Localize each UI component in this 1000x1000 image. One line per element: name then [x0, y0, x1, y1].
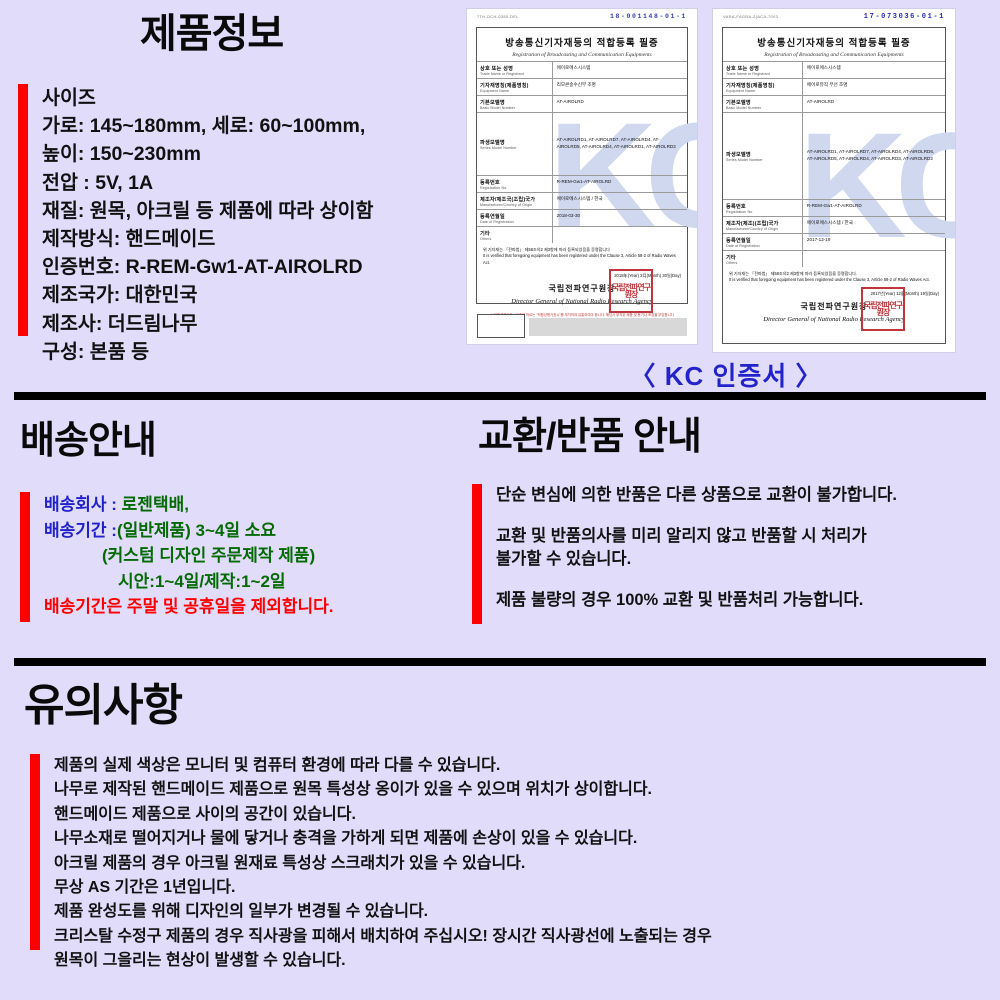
cert-registration-number: 18-001148-01-1: [610, 13, 687, 20]
exchange-heading: 교환/반품 안내: [478, 418, 701, 456]
cert-row: 기본모델명 Basic Model Number AT-AIROLRD: [477, 95, 687, 112]
cert-key-en: Trade Name or Registrant: [726, 72, 799, 76]
spec-line: 재질: 원목, 아크릴 등 제품에 따라 상이함: [42, 197, 373, 225]
cert-key-en: Manufacturer/Country of Origin: [480, 203, 549, 207]
cert-value: [553, 227, 687, 243]
cert-blank-box: [477, 314, 525, 338]
cert-row: 등록번호 Registration No. R-REM-Gw1-AT-AIROL…: [723, 199, 945, 216]
cert-key-en: Manufacturer/Country of Origin: [726, 227, 799, 231]
cert-signature-label: 국립전파연구원장: [801, 302, 868, 311]
cert-row: 파생모델명 Series Model Number AT-AIROLRD1, A…: [723, 112, 945, 199]
cert-value: AT-AIROLRD1, AT-AIROLRD7, AT-AIROLRD4, A…: [553, 113, 687, 175]
spec-line: 인증번호: R-REM-Gw1-AT-AIROLRD: [42, 253, 373, 281]
cert-title-en: Registration of Broadcasting and Communi…: [723, 52, 945, 58]
shipping-warning: 배송기간은 주말 및 공휴일을 제외합니다.: [44, 594, 334, 620]
shipping-period-value: (일반제품) 3~4일 소요: [117, 521, 276, 540]
shipping-company-line: 배송회사 : 로젠택배,: [44, 492, 334, 518]
official-seal-stamp: 국립전파연구원장: [609, 269, 653, 313]
exchange-info-block: 단순 변심에 의한 반품은 다른 상품으로 교환이 불가합니다. 교환 및 반품…: [472, 484, 992, 624]
cert-key-en: Equipment Name: [480, 89, 549, 93]
cert-key-ko: 기자재명칭(제품명칭): [726, 82, 799, 89]
cert-key-en: Date of Registration: [726, 244, 799, 248]
cert-key: 기자재명칭(제품명칭) Equipment Name: [477, 79, 553, 95]
official-seal-stamp: 국립전파연구원장: [861, 287, 905, 331]
cert-key-ko: 등록번호: [480, 179, 549, 186]
cert-key-ko: 등록연월일: [726, 237, 799, 244]
spec-line: 사이즈: [42, 84, 373, 112]
cert-corner-code: VARA-FAGRA-2(ACA-7003: [723, 14, 778, 19]
cert-key-en: Date of Registration: [480, 220, 549, 224]
cert-key-en: Others: [726, 261, 799, 265]
cert-key-ko: 상호 또는 성명: [480, 65, 549, 72]
cert-row: 기자재명칭(제품명칭) Equipment Name 에어로뮤직 무선 조명: [723, 78, 945, 95]
cert-value: AT-AIROLRD1, AT-AIROLRD7, AT-AIROLRD4, A…: [803, 113, 945, 199]
cert-key-en: Equipment Name: [726, 89, 799, 93]
cert-title-ko: 방송통신기자재등의 적합등록 필증: [477, 35, 687, 49]
cert-row: 파생모델명 Series Model Number AT-AIROLRD1, A…: [477, 112, 687, 175]
notice-line: 제품 완성도를 위해 디자인의 일부가 변경될 수 있습니다.: [54, 900, 712, 924]
cert-signature-ko: 국립전파연구원장 국립전파연구원장: [477, 283, 687, 294]
product-spec-list: 사이즈 가로: 145~180mm, 세로: 60~100mm, 높이: 150…: [42, 84, 373, 366]
cert-corner-code: 7TH-DCH-0380-DEL: [477, 14, 519, 19]
cert-value: AT-AIROLRD: [803, 96, 945, 112]
section-divider: [14, 392, 986, 400]
cert-signature-label: 국립전파연구원장: [549, 284, 616, 293]
kc-certificate-image-right[interactable]: VARA-FAGRA-2(ACA-7003 17-073036-01-1 KC …: [712, 8, 956, 353]
cert-key: 기자재명칭(제품명칭) Equipment Name: [723, 79, 803, 95]
cert-legal-en: It is verified that foregoing equipment …: [729, 277, 939, 283]
cert-key-en: Basic Model Number: [480, 106, 549, 110]
section-divider: [14, 658, 986, 666]
cert-key-ko: 제조자/제조국(조립)국가: [480, 196, 549, 203]
cert-issue-date: 2018年(Year) 3月(Month) 30일(Day): [477, 273, 687, 279]
cert-value: R-REM-Gw1-AT-AIROLRD: [553, 176, 687, 192]
cert-issue-date: 2017년(Year) 12월(Month) 19일(Day): [723, 291, 945, 297]
notice-line: 나무소재로 떨어지거나 물에 닿거나 충격을 가하게 되면 제품에 손상이 있을…: [54, 827, 712, 851]
accent-bar: [20, 492, 30, 622]
cert-signature-en: Director General of National Radio Resea…: [723, 316, 945, 323]
cert-row: 등록연월일 Date of Registration 2018-03-30: [477, 209, 687, 226]
cert-key-en: Series Model Number: [726, 158, 763, 162]
cert-value: 리모콘송수신부 조명: [553, 79, 687, 95]
notice-line: 원목이 그을리는 현상이 발생할 수 있습니다.: [54, 949, 712, 973]
cert-value: 에이로에스시스템 / 한국: [803, 217, 945, 233]
product-spec-block: 사이즈 가로: 145~180mm, 세로: 60~100mm, 높이: 150…: [18, 84, 458, 366]
cert-value: 2018-03-30: [553, 210, 687, 226]
cert-signature-ko: 국립전파연구원장 국립전파연구원장: [723, 301, 945, 312]
spec-line: 제작방식: 핸드메이드: [42, 225, 373, 253]
notice-line: 아크릴 제품의 경우 아크릴 원재료 특성상 스크래치가 있을 수 있습니다.: [54, 852, 712, 876]
cert-row: 제조자/제조국(조립)국가 Manufacturer/Country of Or…: [477, 192, 687, 209]
shipping-custom-detail: 시안:1~4일/제작:1~2일: [44, 569, 334, 595]
spec-line: 제조사: 더드림나무: [42, 310, 373, 338]
cert-key-ko: 기타: [480, 230, 549, 237]
page-title: 제품정보: [140, 14, 283, 54]
cert-key-ko: 파생모델명: [726, 151, 763, 158]
cert-value: 에이로에스시스템: [553, 62, 687, 78]
cert-key-en: Trade Name or Registrant: [480, 72, 549, 76]
notices-list-block: 제품의 실제 색상은 모니터 및 컴퓨터 환경에 따라 다를 수 있습니다. 나…: [30, 754, 980, 974]
notice-line: 핸드메이드 제품으로 사이의 공간이 있습니다.: [54, 803, 712, 827]
cert-value: 에이로에스시스템: [803, 62, 945, 78]
cert-key-ko: 기타: [726, 254, 799, 261]
cert-key-en: Basic Model Number: [726, 106, 799, 110]
kc-certificate-image-left[interactable]: 7TH-DCH-0380-DEL 18-001148-01-1 KC 방송통신기…: [466, 8, 698, 345]
cert-key: 등록번호 Registration No.: [477, 176, 553, 192]
cert-value: [803, 251, 945, 267]
cert-key-ko: 등록연월일: [480, 213, 549, 220]
cert-row: 상호 또는 성명 Trade Name or Registrant 에이로에스시…: [477, 61, 687, 78]
cert-value: 2017-12-19: [803, 234, 945, 250]
cert-key: 기본모델명 Basic Model Number: [477, 96, 553, 112]
cert-row: 상호 또는 성명 Trade Name or Registrant 에이로에스시…: [723, 61, 945, 78]
cert-key: 등록연월일 Date of Registration: [477, 210, 553, 226]
cert-legal-note: 위 기자재는 「전파법」 제58조의2 제3항에 따라 등록되었음을 증명합니다…: [723, 267, 945, 284]
shipping-exchange-section: 배송안내 배송회사 : 로젠택배, 배송기간 :(일반제품) 3~4일 소요 (…: [0, 400, 1000, 658]
cert-key: 상호 또는 성명 Trade Name or Registrant: [723, 62, 803, 78]
accent-bar: [30, 754, 40, 950]
cert-row: 등록번호 Registration No. R-REM-Gw1-AT-AIROL…: [477, 175, 687, 192]
notice-line: 제품의 실제 색상은 모니터 및 컴퓨터 환경에 따라 다를 수 있습니다.: [54, 754, 712, 778]
cert-key-ko: 기자재명칭(제품명칭): [480, 82, 549, 89]
product-detail-page: 제품정보 사이즈 가로: 145~180mm, 세로: 60~100mm, 높이…: [0, 0, 1000, 1000]
cert-row: 기본모델명 Basic Model Number AT-AIROLRD: [723, 95, 945, 112]
spec-line: 높이: 150~230mm: [42, 140, 373, 168]
cert-key-ko: 제조자(제조)(조립)국가: [726, 220, 799, 227]
exchange-policy-item: 단순 변심에 의한 반품은 다른 상품으로 교환이 불가합니다.: [496, 484, 956, 507]
cert-value: AT-AIROLRD: [553, 96, 687, 112]
notice-line: 크리스탈 수정구 제품의 경우 직사광을 피해서 배치하여 주십시오! 장시간 …: [54, 925, 712, 949]
cert-key: 등록연월일 Date of Registration: [723, 234, 803, 250]
cert-key: 제조자/제조국(조립)국가 Manufacturer/Country of Or…: [477, 193, 553, 209]
cert-key-ko: 기본모델명: [726, 99, 799, 106]
cert-key-en: Registration No.: [480, 186, 549, 190]
spec-line: 가로: 145~180mm, 세로: 60~100mm,: [42, 112, 373, 140]
spec-line: 전압 : 5V, 1A: [42, 169, 373, 197]
product-info-section: 제품정보 사이즈 가로: 145~180mm, 세로: 60~100mm, 높이…: [0, 0, 1000, 392]
cert-registration-number: 17-073036-01-1: [864, 13, 945, 21]
cert-key: 제조자(제조)(조립)국가 Manufacturer/Country of Or…: [723, 217, 803, 233]
cert-key-ko: 파생모델명: [480, 139, 517, 146]
cert-key-ko: 기본모델명: [480, 99, 549, 106]
cert-value: 에어로뮤직 무선 조명: [803, 79, 945, 95]
cert-key: 상호 또는 성명 Trade Name or Registrant: [477, 62, 553, 78]
cert-key-en: Others: [480, 237, 549, 241]
cert-row: 기타 Others: [723, 250, 945, 267]
cert-row: 제조자(제조)(조립)국가 Manufacturer/Country of Or…: [723, 216, 945, 233]
cert-row: 기자재명칭(제품명칭) Equipment Name 리모콘송수신부 조명: [477, 78, 687, 95]
cert-gray-bar: [529, 318, 687, 336]
cert-key: 기본모델명 Basic Model Number: [723, 96, 803, 112]
cert-key-ko: 상호 또는 성명: [726, 65, 799, 72]
shipping-period-line: 배송기간 :(일반제품) 3~4일 소요: [44, 518, 334, 544]
cert-title-ko: 방송통신기자재등의 적합등록 필증: [723, 35, 945, 49]
shipping-company-value: 로젠택배,: [122, 495, 189, 514]
cert-value: 에이로에스시스템 / 한국: [553, 193, 687, 209]
notices-heading: 유의사항: [24, 684, 182, 728]
cert-title-en: Registration of Broadcasting and Communi…: [477, 52, 687, 58]
cert-key: 기타 Others: [477, 227, 553, 243]
notices-section: 유의사항 제품의 실제 색상은 모니터 및 컴퓨터 환경에 따라 다를 수 있습…: [0, 666, 1000, 996]
exchange-policy-item: 제품 불량의 경우 100% 교환 및 반품처리 가능합니다.: [496, 589, 956, 612]
accent-bar: [472, 484, 482, 624]
shipping-heading: 배송안내: [20, 422, 156, 460]
cert-row: 기타 Others: [477, 226, 687, 243]
cert-body: KC 방송통신기자재등의 적합등록 필증 Registration of Bro…: [722, 27, 946, 344]
shipping-period-label: 배송기간 :: [44, 521, 117, 540]
cert-key: 기타 Others: [723, 251, 803, 267]
cert-key: 파생모델명 Series Model Number: [477, 113, 553, 175]
shipping-custom-line: (커스텀 디자인 주문제작 제품): [44, 543, 334, 569]
spec-line: 제조국가: 대한민국: [42, 281, 373, 309]
shipping-info-block: 배송회사 : 로젠택배, 배송기간 :(일반제품) 3~4일 소요 (커스텀 디…: [20, 492, 450, 622]
cert-row: 등록연월일 Date of Registration 2017-12-19: [723, 233, 945, 250]
cert-legal-note: 위 기자재는 「전파법」 제58조의2 제3항에 따라 등록되었음을 증명합니다…: [477, 243, 687, 266]
kc-certificate-gallery: 7TH-DCH-0380-DEL 18-001148-01-1 KC 방송통신기…: [466, 8, 986, 353]
cert-key-en: Registration No.: [726, 210, 799, 214]
cert-key-ko: 등록번호: [726, 203, 799, 210]
cert-signature-en: Director General of National Radio Resea…: [477, 298, 687, 305]
kc-certificate-caption: 〈 KC 인증서 〉: [466, 356, 986, 393]
accent-bar: [18, 84, 28, 336]
cert-key: 파생모델명 Series Model Number: [723, 113, 803, 199]
cert-key: 등록번호 Registration No.: [723, 200, 803, 216]
notice-line: 무상 AS 기간은 1년입니다.: [54, 876, 712, 900]
cert-key-en: Series Model Number: [480, 146, 517, 150]
cert-value: R-REM-Gw1-AT-AIROLRD: [803, 200, 945, 216]
shipping-company-label: 배송회사 :: [44, 495, 122, 514]
exchange-policy-item: 교환 및 반품의사를 미리 알리지 않고 반품할 시 처리가 불가할 수 있습니…: [496, 525, 956, 571]
cert-body: KC 방송통신기자재등의 적합등록 필증 Registration of Bro…: [476, 27, 688, 304]
spec-line: 구성: 본품 등: [42, 338, 373, 366]
cert-legal-en: It is verified that foregoing equipment …: [483, 253, 681, 266]
notice-line: 나무로 제작된 핸드메이드 제품으로 원목 특성상 옹이가 있을 수 있으며 위…: [54, 778, 712, 802]
